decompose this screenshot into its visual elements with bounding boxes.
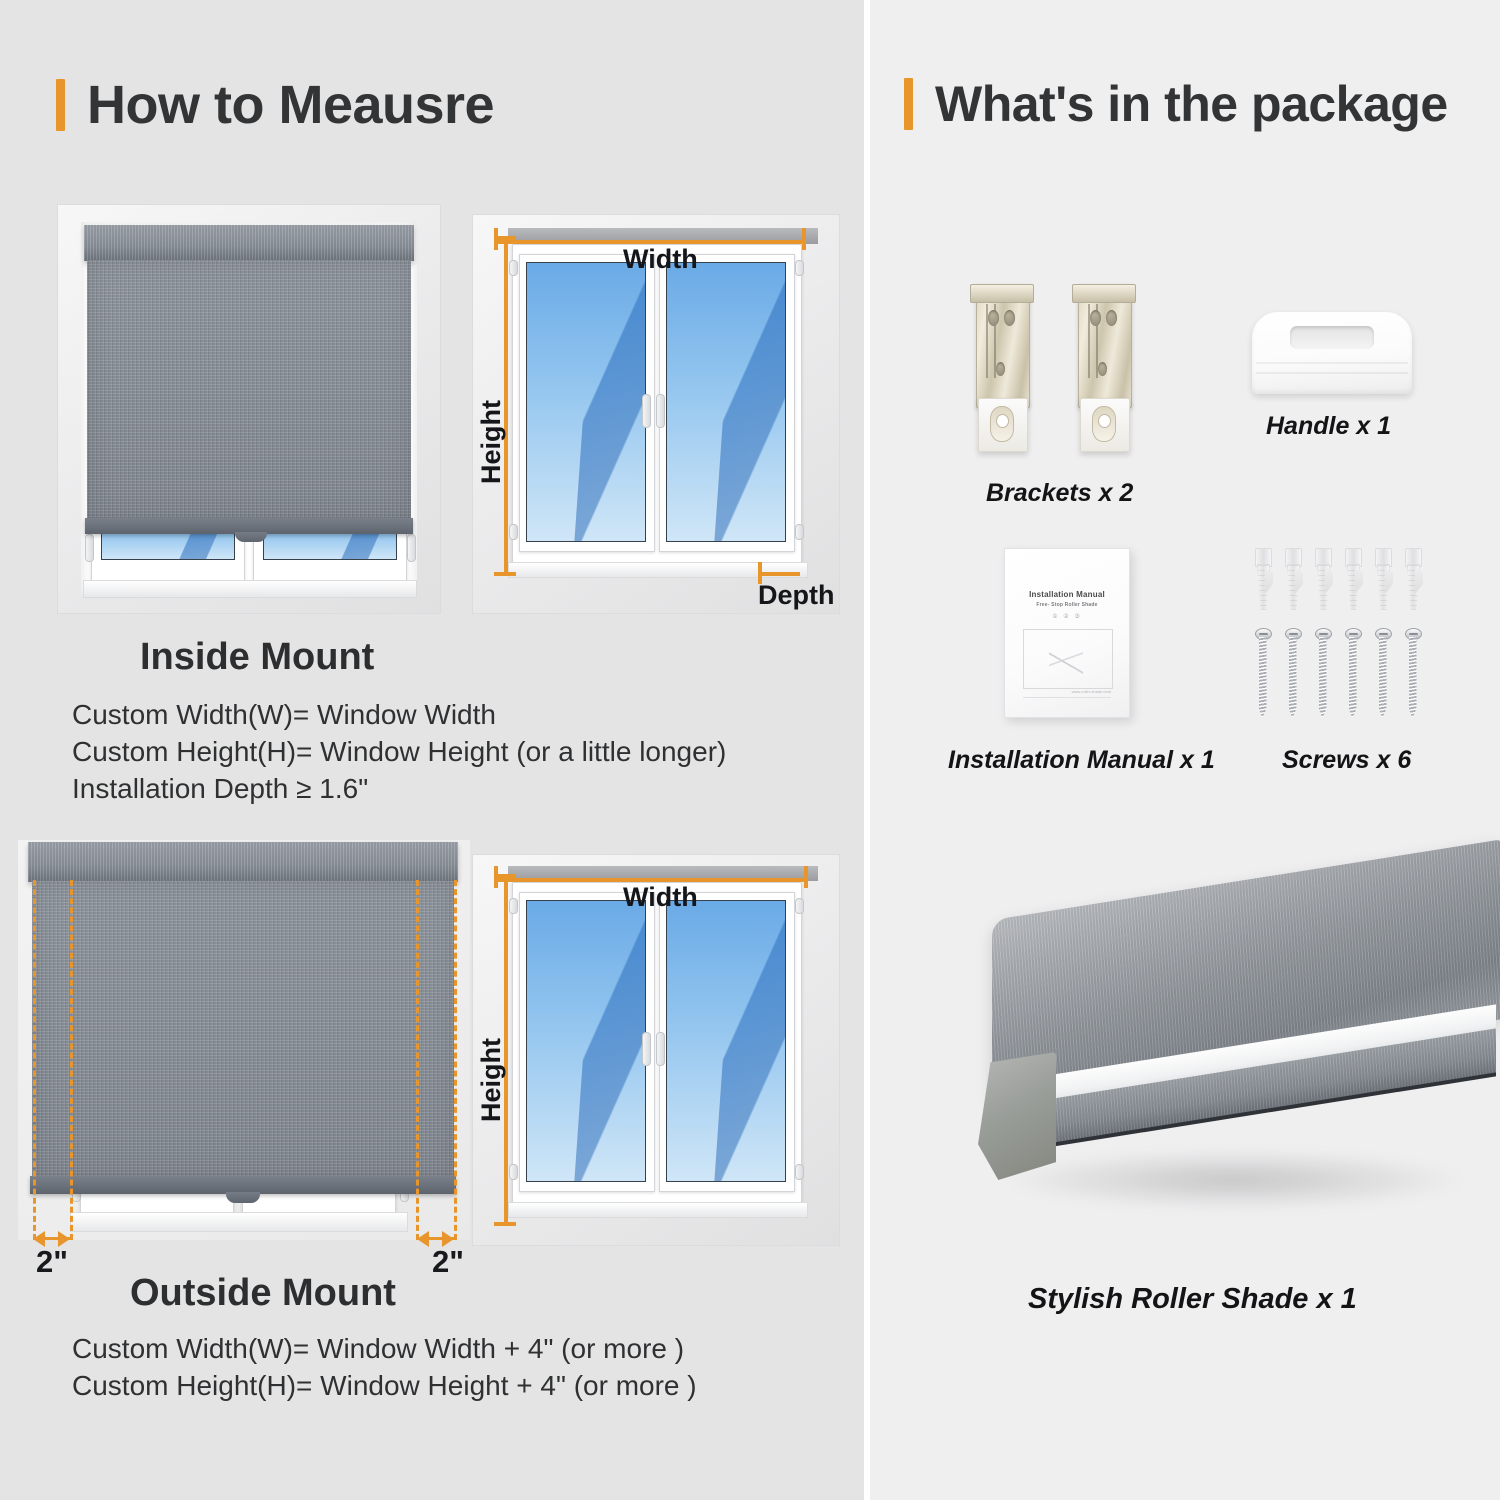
shade-pull-grip bbox=[235, 532, 267, 542]
window-sill bbox=[83, 580, 417, 598]
height-label: Height bbox=[476, 400, 507, 484]
shade-fabric bbox=[32, 881, 454, 1179]
anchor-fin bbox=[1385, 568, 1393, 594]
window-hinge-top-left bbox=[509, 898, 518, 914]
screw-shaft bbox=[1349, 637, 1357, 718]
overhang-guide-left-inner bbox=[70, 880, 73, 1240]
manual-cover-glyphs: ① ② ③ bbox=[1005, 613, 1129, 620]
bracket-top-flange bbox=[970, 284, 1034, 303]
infographic-page: How to Meausre bbox=[0, 0, 1500, 1500]
roller-shade-item bbox=[940, 900, 1500, 1240]
inside-spec-depth: Installation Depth ≥ 1.6" bbox=[72, 771, 726, 808]
window-handle-right bbox=[407, 534, 416, 562]
accent-bar-icon bbox=[904, 78, 913, 130]
manual-footer-rule bbox=[1023, 697, 1111, 698]
window-hinge-bottom-right bbox=[795, 1164, 804, 1180]
screw-shaft bbox=[1379, 637, 1387, 718]
overhang-left-label: 2" bbox=[36, 1244, 68, 1280]
screws-label: Screws x 6 bbox=[1282, 746, 1411, 775]
roller-drop-shadow bbox=[1000, 1150, 1470, 1210]
bracket-screw-hole bbox=[1098, 414, 1111, 428]
wall-anchor-icon bbox=[1254, 548, 1271, 608]
how-to-measure-heading-text: How to Meausre bbox=[87, 78, 494, 132]
screw-icon bbox=[1255, 628, 1270, 718]
height-dimension-cap-top bbox=[494, 236, 516, 240]
roller-end-cap bbox=[978, 1052, 1056, 1180]
how-to-measure-heading: How to Meausre bbox=[56, 78, 494, 132]
bracket-screw-hole bbox=[996, 414, 1009, 428]
window-glass-left bbox=[526, 900, 646, 1182]
overhang-arrow-right bbox=[417, 1231, 429, 1247]
height-dimension-cap-top bbox=[494, 874, 516, 878]
manual-footer-note: www.roller-shade.com bbox=[1072, 689, 1111, 694]
window-sill bbox=[508, 1202, 808, 1218]
wall-anchor-icon bbox=[1404, 548, 1421, 608]
window-handle-left bbox=[642, 394, 651, 428]
screw-icon bbox=[1375, 628, 1390, 718]
shade-fabric bbox=[87, 260, 411, 520]
overhang-guide-right-inner bbox=[416, 880, 419, 1240]
package-heading-text: What's in the package bbox=[935, 79, 1448, 129]
depth-label: Depth bbox=[758, 580, 835, 611]
inside-mount-shade-photo bbox=[57, 204, 441, 614]
accent-bar-icon bbox=[56, 79, 65, 131]
window-glass-right bbox=[666, 900, 786, 1182]
window-hinge-bottom-right bbox=[795, 524, 804, 540]
bracket-hole bbox=[1004, 310, 1015, 326]
handle-grip-slot bbox=[1290, 326, 1374, 349]
depth-dimension-line bbox=[758, 572, 800, 576]
roller-shade-label: Stylish Roller Shade x 1 bbox=[1028, 1283, 1357, 1316]
handle-ridge bbox=[1256, 362, 1408, 364]
screw-shaft bbox=[1259, 637, 1267, 718]
window-hinge-top-right bbox=[795, 260, 804, 276]
outside-mount-window-diagram: Width Height bbox=[472, 854, 840, 1246]
inside-mount-title: Inside Mount bbox=[140, 636, 374, 679]
anchor-fin bbox=[1415, 568, 1423, 594]
overhang-guide-left-outer bbox=[33, 880, 36, 1240]
anchor-fin bbox=[1355, 568, 1363, 594]
anchor-fin bbox=[1325, 568, 1333, 594]
manual-cover-title: Installation Manual bbox=[1005, 590, 1129, 599]
bracket-hole bbox=[988, 310, 999, 326]
screw-icon bbox=[1345, 628, 1360, 718]
window-handle-right bbox=[656, 1032, 665, 1066]
window-handle-left bbox=[642, 1032, 651, 1066]
window-handle-right bbox=[656, 394, 665, 428]
wall-anchor-icon bbox=[1344, 548, 1361, 608]
overhang-guide-right-outer bbox=[454, 880, 457, 1240]
width-label: Width bbox=[623, 882, 698, 913]
height-dimension-cap-bottom bbox=[494, 1222, 516, 1226]
manual-item: Installation Manual Free- Stop Roller Sh… bbox=[1004, 548, 1128, 716]
manual-icon: Installation Manual Free- Stop Roller Sh… bbox=[1004, 548, 1130, 718]
outside-spec-width: Custom Width(W)= Window Width + 4" (or m… bbox=[72, 1331, 697, 1368]
wall-anchor-icon bbox=[1284, 548, 1301, 608]
bracket-hole bbox=[1098, 362, 1107, 376]
manual-cover-subtitle: Free- Stop Roller Shade bbox=[1005, 602, 1129, 608]
height-dimension-cap-bottom bbox=[494, 572, 516, 576]
height-label: Height bbox=[476, 1038, 507, 1122]
brackets-label: Brackets x 2 bbox=[986, 479, 1133, 508]
screw-shaft bbox=[1289, 637, 1297, 718]
bracket-hole bbox=[996, 362, 1005, 376]
shade-headrail bbox=[84, 225, 414, 261]
width-dimension-cap-right bbox=[804, 866, 808, 888]
wall-anchor-icon bbox=[1314, 548, 1331, 608]
shade-headrail bbox=[28, 842, 458, 882]
outside-mount-specs: Custom Width(W)= Window Width + 4" (or m… bbox=[72, 1331, 697, 1405]
bracket-icon bbox=[970, 284, 1032, 444]
screw-shaft bbox=[1319, 637, 1327, 718]
screw-icon bbox=[1285, 628, 1300, 718]
screw-icon bbox=[1315, 628, 1330, 718]
overhang-right-label: 2" bbox=[432, 1244, 464, 1280]
width-dimension-cap-right bbox=[802, 228, 806, 250]
wall-anchor-icon bbox=[1374, 548, 1391, 608]
window-hinge-bottom-left bbox=[509, 524, 518, 540]
window-glass-right bbox=[666, 262, 786, 542]
screw-icon bbox=[1405, 628, 1420, 718]
window-handle-left bbox=[85, 534, 94, 562]
inside-mount-specs: Custom Width(W)= Window Width Custom Hei… bbox=[72, 697, 726, 808]
outside-mount-title: Outside Mount bbox=[130, 1272, 396, 1315]
window-hinge-top-left bbox=[509, 260, 518, 276]
outside-mount-shade-photo bbox=[18, 840, 470, 1240]
bracket-hole bbox=[1106, 310, 1117, 326]
width-label: Width bbox=[623, 244, 698, 275]
bracket-hole bbox=[1090, 310, 1101, 326]
handle-label: Handle x 1 bbox=[1266, 412, 1391, 441]
brackets-item bbox=[962, 284, 1162, 454]
manual-label: Installation Manual x 1 bbox=[948, 746, 1215, 775]
handle-icon bbox=[1252, 312, 1412, 394]
inside-spec-height: Custom Height(H)= Window Height (or a li… bbox=[72, 734, 726, 771]
window-sill bbox=[70, 1212, 408, 1232]
bracket-icon bbox=[1072, 284, 1134, 444]
window-hinge-top-right bbox=[795, 898, 804, 914]
shade-pull-grip bbox=[226, 1192, 260, 1203]
anchor-fin bbox=[1265, 568, 1273, 594]
bracket-top-flange bbox=[1072, 284, 1136, 303]
handle-ridge bbox=[1256, 372, 1408, 374]
screws-item bbox=[1248, 548, 1438, 718]
package-heading: What's in the package bbox=[904, 78, 1448, 130]
anchor-fin bbox=[1295, 568, 1303, 594]
outside-spec-height: Custom Height(H)= Window Height + 4" (or… bbox=[72, 1368, 697, 1405]
window-glass-left bbox=[526, 262, 646, 542]
manual-cover-sketch bbox=[1049, 645, 1083, 677]
inside-mount-window-diagram: Width Height Depth bbox=[472, 214, 840, 614]
inside-spec-width: Custom Width(W)= Window Width bbox=[72, 697, 726, 734]
window-hinge-bottom-left bbox=[509, 1164, 518, 1180]
screw-shaft bbox=[1409, 637, 1417, 718]
handle-item bbox=[1252, 312, 1412, 394]
